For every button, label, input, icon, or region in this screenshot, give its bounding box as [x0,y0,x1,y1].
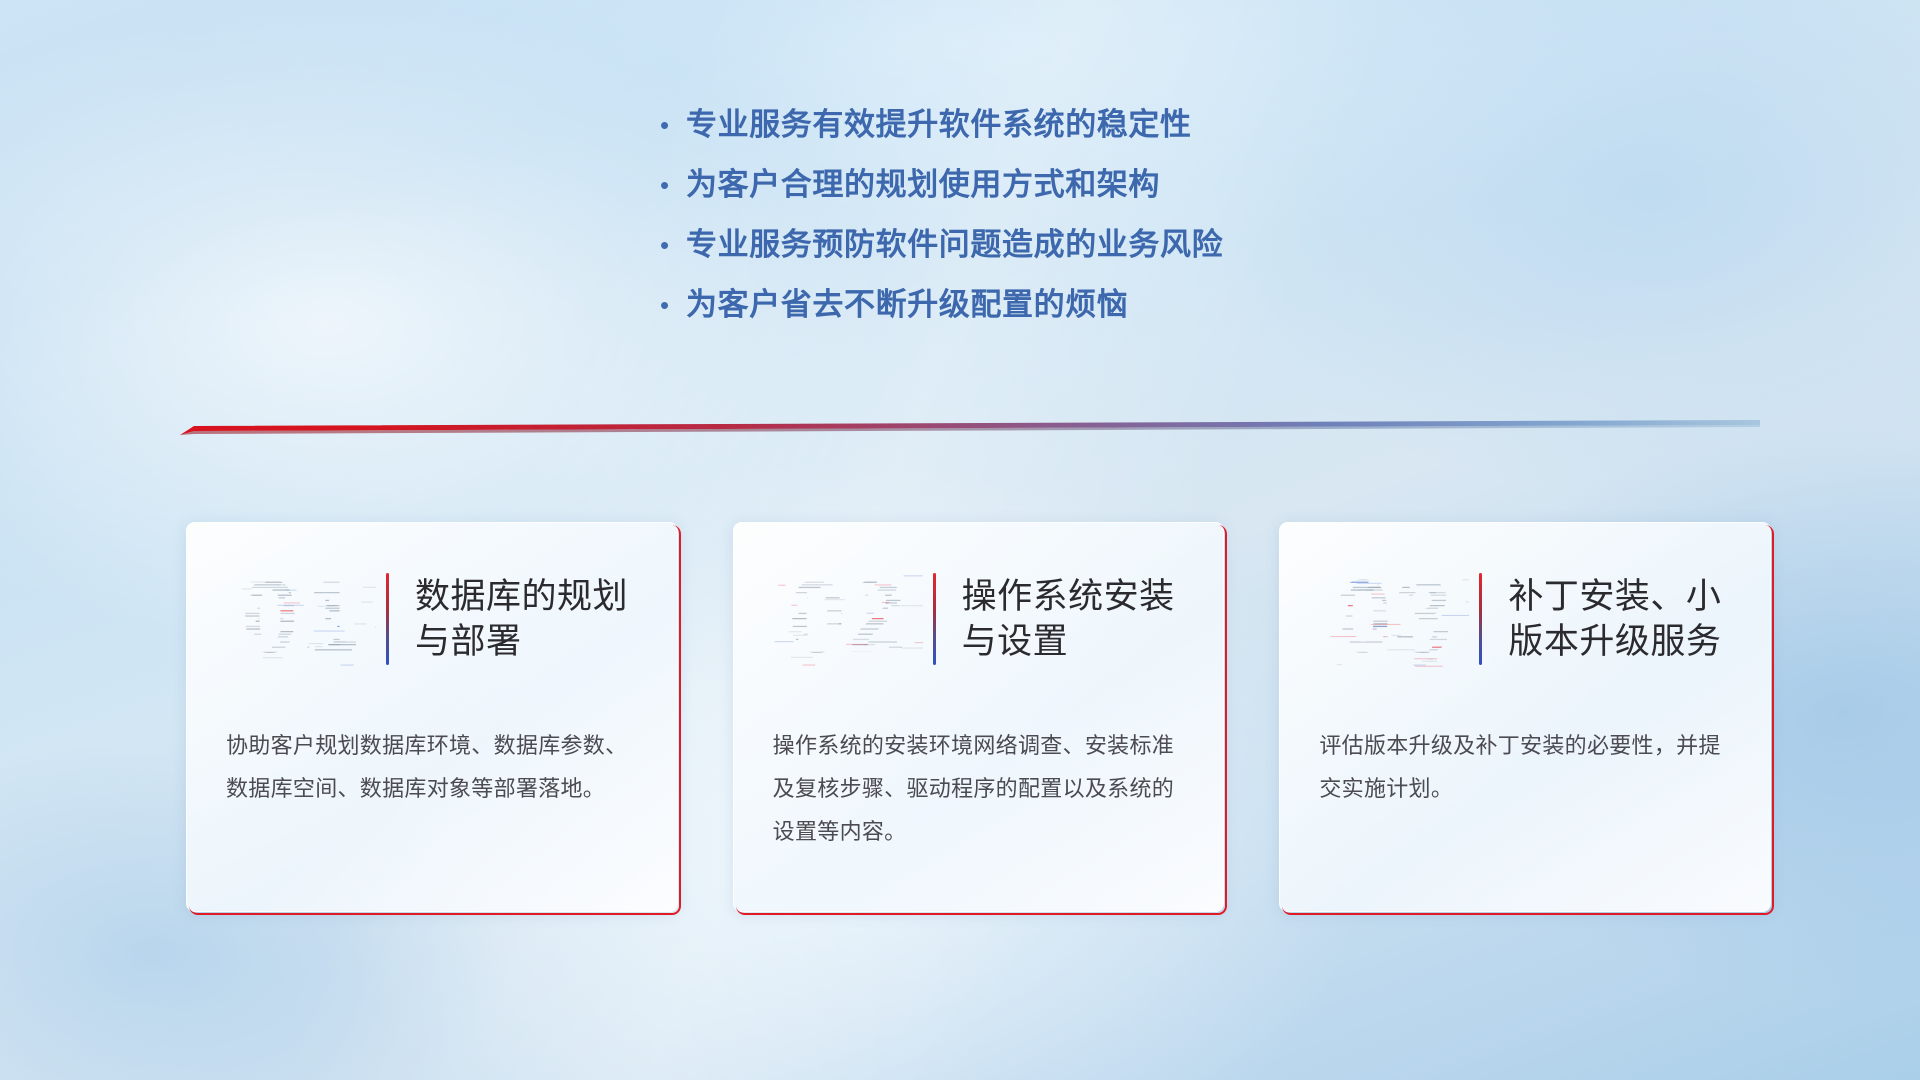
bullet-label: 专业服务有效提升软件系统的稳定性 [686,108,1192,142]
service-card[interactable]: 01数据库的规划与部署协助客户规划数据库环境、数据库参数、数据库空间、数据库对象… [186,522,678,912]
bullet-item: •专业服务预防软件问题造成的业务风险 [660,228,1460,262]
bullet-dot-icon: • [660,168,686,202]
service-card[interactable]: 03补丁安装、小版本升级服务评估版本升级及补丁安装的必要性，并提交实施计划。 [1279,522,1771,912]
bullet-item: •专业服务有效提升软件系统的稳定性 [660,108,1460,142]
bullet-item: •为客户省去不断升级配置的烦恼 [660,288,1460,322]
service-card[interactable]: 02操作系统安装与设置操作系统的安装环境网络调查、安装标准及复核步骤、驱动程序的… [733,522,1225,912]
card-header: 03补丁安装、小版本升级服务 [1319,560,1731,678]
service-card-list: 01数据库的规划与部署协助客户规划数据库环境、数据库参数、数据库空间、数据库对象… [186,522,1771,912]
card-number-glyph: 02 [773,564,923,674]
card-body-text: 操作系统的安装环境网络调查、安装标准及复核步骤、驱动程序的配置以及系统的设置等内… [773,724,1185,853]
card-divider-bar [386,573,389,665]
bullet-label: 为客户合理的规划使用方式和架构 [686,168,1160,202]
benefits-bullet-list: •专业服务有效提升软件系统的稳定性•为客户合理的规划使用方式和架构•专业服务预防… [660,108,1460,348]
card-title: 数据库的规划与部署 [415,574,638,664]
bullet-dot-icon: • [660,108,686,142]
bullet-dot-icon: • [660,288,686,322]
card-title: 操作系统安装与设置 [962,574,1185,664]
slide-canvas: •专业服务有效提升软件系统的稳定性•为客户合理的规划使用方式和架构•专业服务预防… [0,0,1920,1080]
bullet-label: 专业服务预防软件问题造成的业务风险 [686,228,1223,262]
bullet-label: 为客户省去不断升级配置的烦恼 [686,288,1128,322]
card-divider-bar [933,573,936,665]
bullet-item: •为客户合理的规划使用方式和架构 [660,168,1460,202]
card-header: 02操作系统安装与设置 [773,560,1185,678]
card-number-glyph: 03 [1319,564,1469,674]
card-divider-bar [1479,573,1482,665]
bullet-dot-icon: • [660,228,686,262]
card-title: 补丁安装、小版本升级服务 [1508,574,1731,664]
section-accent-rule [180,418,1760,444]
card-number-glyph: 01 [226,564,376,674]
card-header: 01数据库的规划与部署 [226,560,638,678]
card-body-text: 评估版本升级及补丁安装的必要性，并提交实施计划。 [1319,724,1731,810]
card-body-text: 协助客户规划数据库环境、数据库参数、数据库空间、数据库对象等部署落地。 [226,724,638,810]
